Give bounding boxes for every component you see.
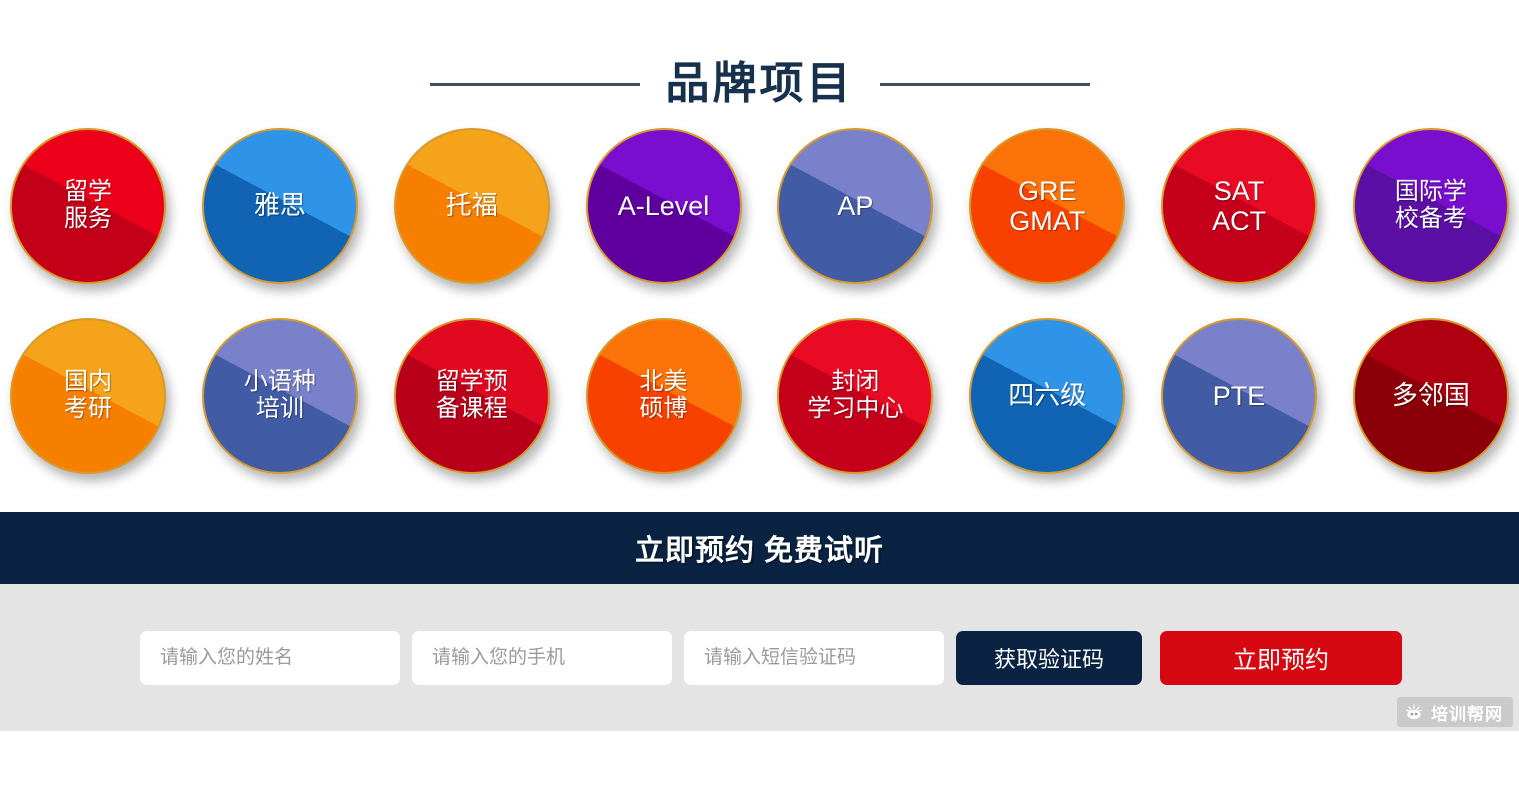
program-bubble[interactable]: 留学预 备课程 <box>394 318 550 474</box>
program-bubble-label: 雅思 <box>248 191 312 220</box>
program-bubble-label: 留学 服务 <box>58 179 118 233</box>
program-bubble-label: GRE GMAT <box>1003 176 1091 236</box>
program-bubble-label: A-Level <box>612 191 716 221</box>
program-bubble-label: AP <box>831 191 879 221</box>
program-bubble-label: 国内 考研 <box>58 369 118 423</box>
program-bubble[interactable]: 多邻国 <box>1353 318 1509 474</box>
program-bubble[interactable]: PTE <box>1161 318 1317 474</box>
program-grid: 留学 服务雅思托福A-LevelAPGRE GMATSAT ACT国际学 校备考… <box>0 106 1519 474</box>
booking-banner-text: 立即预约 免费试听 <box>635 527 884 569</box>
get-code-button[interactable]: 获取验证码 <box>956 631 1142 685</box>
site-watermark: 培训帮网 <box>1397 697 1513 727</box>
booking-banner: 立即预约 免费试听 <box>0 512 1519 584</box>
program-bubble[interactable]: 小语种 培训 <box>202 318 358 474</box>
program-bubble[interactable]: 留学 服务 <box>10 128 166 284</box>
phone-input[interactable] <box>412 631 672 685</box>
program-bubble[interactable]: A-Level <box>586 128 742 284</box>
name-input[interactable] <box>140 631 400 685</box>
title-rule-right <box>880 83 1090 86</box>
program-bubble[interactable]: 四六级 <box>969 318 1125 474</box>
program-bubble-label: 北美 硕博 <box>634 369 694 423</box>
program-bubble[interactable]: 托福 <box>394 128 550 284</box>
program-bubble-label: SAT ACT <box>1206 176 1272 236</box>
program-bubble-label: 封闭 学习中心 <box>801 369 909 423</box>
program-bubble[interactable]: GRE GMAT <box>969 128 1125 284</box>
program-bubble-label: 留学预 备课程 <box>430 369 514 423</box>
program-bubble[interactable]: SAT ACT <box>1161 128 1317 284</box>
booking-form: 获取验证码 立即预约 培训帮网 <box>0 584 1519 731</box>
program-bubble[interactable]: 封闭 学习中心 <box>777 318 933 474</box>
program-bubble[interactable]: 国内 考研 <box>10 318 166 474</box>
title-rule-left <box>430 83 640 86</box>
program-bubble[interactable]: 国际学 校备考 <box>1353 128 1509 284</box>
program-row-2: 国内 考研小语种 培训留学预 备课程北美 硕博封闭 学习中心四六级PTE多邻国 <box>0 318 1519 474</box>
program-bubble-label: 多邻国 <box>1386 381 1476 410</box>
eye-icon <box>1404 702 1424 722</box>
program-bubble[interactable]: 雅思 <box>202 128 358 284</box>
submit-booking-button[interactable]: 立即预约 <box>1160 631 1402 685</box>
program-bubble-label: 小语种 培训 <box>238 369 322 423</box>
program-bubble[interactable]: 北美 硕博 <box>586 318 742 474</box>
program-bubble-label: 托福 <box>440 191 504 220</box>
program-bubble[interactable]: AP <box>777 128 933 284</box>
page-title: 品牌项目 <box>666 62 854 106</box>
sms-code-input[interactable] <box>684 631 944 685</box>
program-bubble-label: PTE <box>1207 381 1272 411</box>
program-bubble-label: 国际学 校备考 <box>1389 179 1473 233</box>
watermark-label: 培训帮网 <box>1431 700 1503 725</box>
program-bubble-label: 四六级 <box>1002 381 1092 410</box>
section-header: 品牌项目 <box>0 0 1519 106</box>
program-row-1: 留学 服务雅思托福A-LevelAPGRE GMATSAT ACT国际学 校备考 <box>0 128 1519 284</box>
